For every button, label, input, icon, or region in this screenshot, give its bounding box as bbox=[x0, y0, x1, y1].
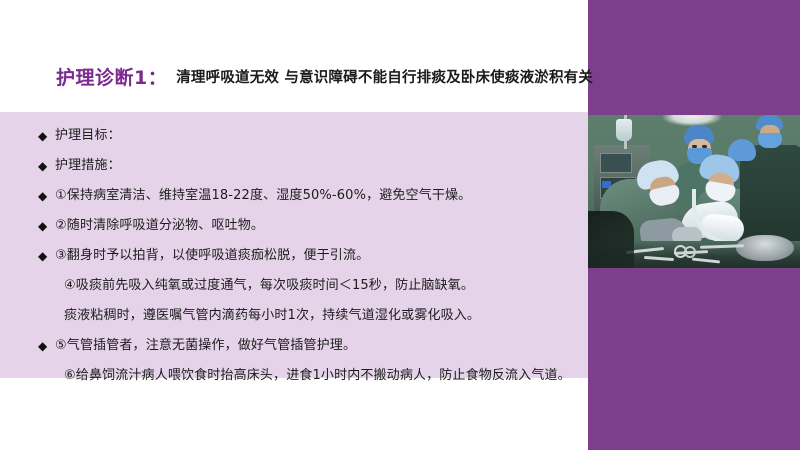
list-item: ⑥给鼻饲流汁病人喂饮食时抬高床头，进食1小时内不搬动病人，防止食物反流入气道。 bbox=[0, 366, 588, 396]
iv-bag-shape bbox=[616, 119, 632, 141]
diamond-bullet-icon: ◆ bbox=[38, 216, 55, 236]
list-item: 痰液粘稠时，遵医嘱气管内滴药每小时1次，持续气道湿化或雾化吸入。 bbox=[0, 306, 588, 336]
list-item-text: ⑥给鼻饲流汁病人喂饮食时抬高床头，进食1小时内不搬动病人，防止食物反流入气道。 bbox=[64, 366, 571, 386]
diamond-bullet-icon: ◆ bbox=[38, 186, 55, 206]
slide: 护理诊断1： 清理呼吸道无效 与意识障碍不能自行排痰及卧床使痰液淤积有关 ◆护理… bbox=[0, 0, 800, 450]
list-item-text: 护理措施： bbox=[55, 156, 121, 176]
instrument-tray-shape bbox=[736, 235, 794, 261]
list-item: ◆护理目标： bbox=[0, 126, 588, 156]
surgical-mask-far-right-shape bbox=[758, 133, 782, 148]
diamond-bullet-icon: ◆ bbox=[38, 336, 55, 356]
list-item: ◆③翻身时予以拍背，以使呼吸道痰痂松脱，便于引流。 bbox=[0, 246, 588, 276]
assistant-cap-shape bbox=[728, 139, 756, 161]
forceps-ring-2-shape bbox=[684, 246, 696, 258]
list-item: ◆护理措施： bbox=[0, 156, 588, 186]
list-item-text: ①保持病室清洁、维持室温18-22度、湿度50%-60%，避免空气干燥。 bbox=[55, 186, 471, 206]
nursing-measures-list: ◆护理目标：◆护理措施：◆①保持病室清洁、维持室温18-22度、湿度50%-60… bbox=[0, 126, 588, 396]
list-item: ◆②随时清除呼吸道分泌物、呕吐物。 bbox=[0, 216, 588, 246]
list-item-text: ②随时清除呼吸道分泌物、呕吐物。 bbox=[55, 216, 264, 236]
diamond-bullet-icon: ◆ bbox=[38, 126, 55, 146]
diamond-bullet-icon: ◆ bbox=[38, 246, 55, 266]
monitor-screen-shape bbox=[600, 153, 632, 173]
operating-room-photo bbox=[588, 115, 800, 268]
list-item-text: ⑤气管插管者，注意无菌操作，做好气管插管护理。 bbox=[55, 336, 356, 356]
list-item-text: ③翻身时予以拍背，以使呼吸道痰痂松脱，便于引流。 bbox=[55, 246, 369, 266]
list-item-text: 护理目标： bbox=[55, 126, 121, 146]
photo-canvas bbox=[588, 115, 800, 268]
list-item: ◆⑤气管插管者，注意无菌操作，做好气管插管护理。 bbox=[0, 336, 588, 366]
foreground-shadow-shape bbox=[588, 211, 634, 268]
content-panel: ◆护理目标：◆护理措施：◆①保持病室清洁、维持室温18-22度、湿度50%-60… bbox=[0, 112, 588, 378]
list-item: ④吸痰前先吸入纯氧或过度通气，每次吸痰时间＜15秒，防止脑缺氧。 bbox=[0, 276, 588, 306]
title-body-text: 清理呼吸道无效 与意识障碍不能自行排痰及卧床使痰液淤积有关 bbox=[176, 66, 593, 87]
slide-title: 护理诊断1： 清理呼吸道无效 与意识障碍不能自行排痰及卧床使痰液淤积有关 bbox=[0, 55, 588, 97]
list-item-text: ④吸痰前先吸入纯氧或过度通气，每次吸痰时间＜15秒，防止脑缺氧。 bbox=[64, 276, 474, 296]
list-item-text: 痰液粘稠时，遵医嘱气管内滴药每小时1次，持续气道湿化或雾化吸入。 bbox=[64, 306, 480, 326]
list-item: ◆①保持病室清洁、维持室温18-22度、湿度50%-60%，避免空气干燥。 bbox=[0, 186, 588, 216]
title-accent-text: 护理诊断1： bbox=[56, 63, 167, 90]
diamond-bullet-icon: ◆ bbox=[38, 156, 55, 176]
